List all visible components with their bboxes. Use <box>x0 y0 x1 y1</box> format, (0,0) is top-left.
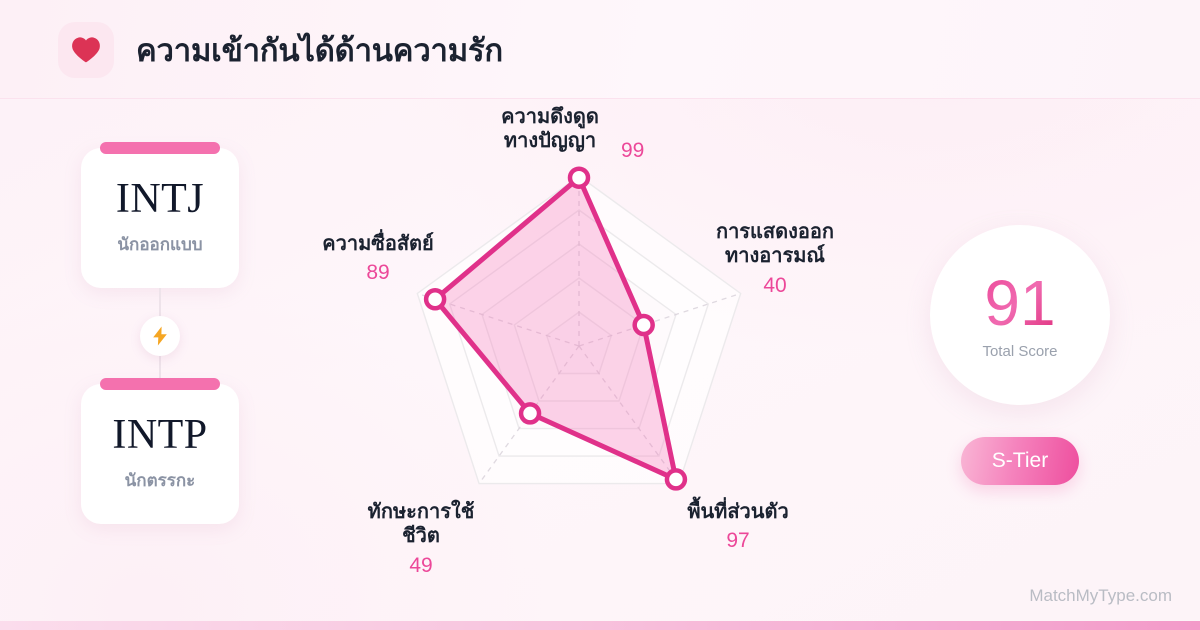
page-header: ความเข้ากันได้ด้านความรัก <box>0 0 1200 99</box>
card-accent-bar <box>100 142 220 154</box>
type-code-second: INTP <box>112 414 207 456</box>
card-accent-bar <box>100 378 220 390</box>
radar-point-3 <box>521 404 539 422</box>
axis-label-4-text: ความซื่อสัตย์ <box>322 233 434 255</box>
type-name-second: นักตรรกะ <box>125 467 196 494</box>
axis-value-3: 49 <box>356 553 486 579</box>
type-connector <box>81 288 239 384</box>
lightning-bolt-icon <box>140 316 180 356</box>
type-card-first[interactable]: INTJ นักออกแบบ <box>81 148 239 288</box>
page-title: ความเข้ากันได้ด้านความรัก <box>136 25 503 75</box>
type-card-second[interactable]: INTP นักตรรกะ <box>81 384 239 524</box>
total-score-value: 91 <box>984 271 1055 335</box>
axis-label-0: ความดึงดูดทางปัญญา 99 <box>485 105 615 154</box>
axis-value-0: 99 <box>621 138 644 164</box>
axis-label-4: ความซื่อสัตย์ 89 <box>320 232 436 286</box>
axis-value-2: 97 <box>678 528 798 554</box>
axis-label-1: การแสดงออกทางอารมณ์ 40 <box>710 220 840 298</box>
watermark: MatchMyType.com <box>1029 586 1172 606</box>
radar-point-2 <box>667 470 685 488</box>
axis-value-1: 40 <box>710 273 840 299</box>
axis-label-2-text: พื้นที่ส่วนตัว <box>687 501 788 523</box>
axis-label-1-text: การแสดงออกทางอารมณ์ <box>716 221 834 267</box>
bottom-accent-bar <box>0 621 1200 630</box>
heart-icon <box>58 22 114 78</box>
radar-point-1 <box>635 316 653 334</box>
axis-label-3-text: ทักษะการใช้ชีวิต <box>368 501 475 547</box>
radar-point-0 <box>570 169 588 187</box>
type-pair-panel: INTJ นักออกแบบ INTP นักตรรกะ <box>81 148 239 524</box>
score-panel: 91 Total Score S-Tier <box>900 225 1140 485</box>
axis-label-3: ทักษะการใช้ชีวิต 49 <box>356 500 486 578</box>
radar-point-4 <box>426 290 444 308</box>
tier-badge: S-Tier <box>961 437 1079 485</box>
radar-chart: ความดึงดูดทางปัญญา 99 การแสดงออกทางอารมณ… <box>300 100 920 630</box>
infographic-root: ความเข้ากันได้ด้านความรัก INTJ นักออกแบบ… <box>0 0 1200 630</box>
type-name-first: นักออกแบบ <box>117 231 202 258</box>
total-score-label: Total Score <box>982 343 1057 360</box>
axis-label-0-text: ความดึงดูดทางปัญญา <box>501 106 599 152</box>
total-score-circle: 91 Total Score <box>930 225 1110 405</box>
axis-value-4: 89 <box>320 260 436 286</box>
type-code-first: INTJ <box>116 178 204 220</box>
axis-label-2: พื้นที่ส่วนตัว 97 <box>678 500 798 554</box>
